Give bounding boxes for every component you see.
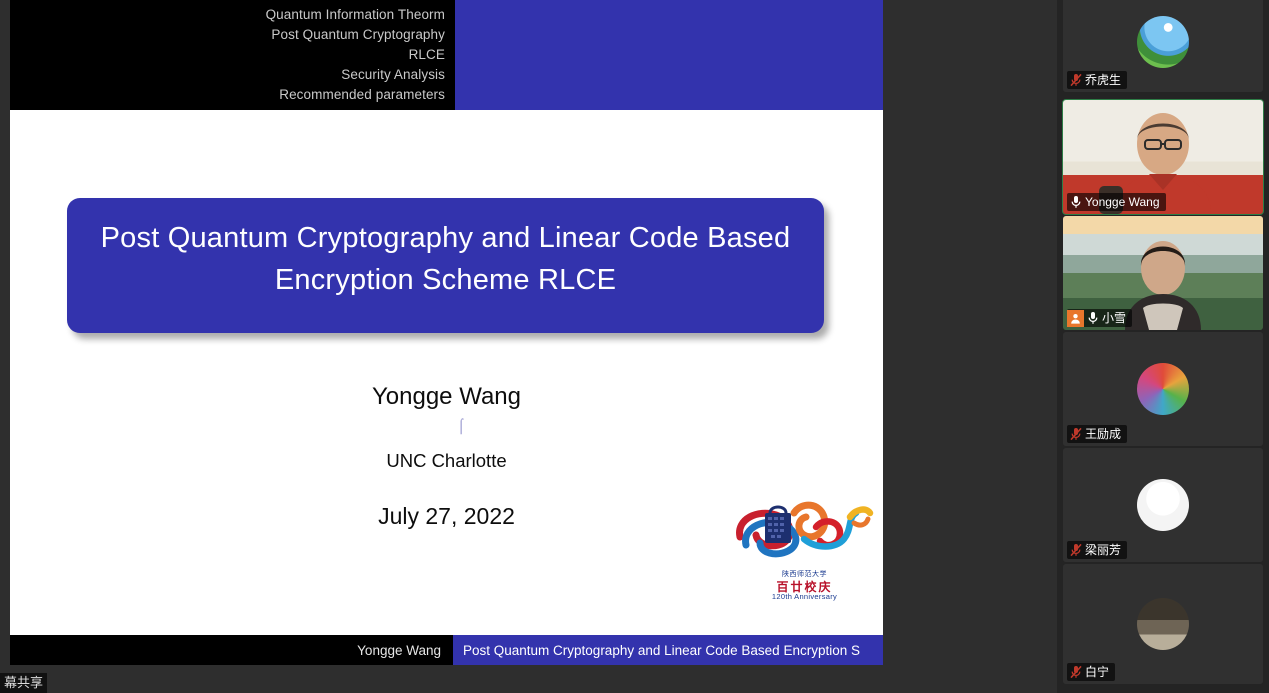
- slide-nav-list: Quantum Information Theorm Post Quantum …: [10, 0, 455, 110]
- nav-item-recommended-parameters[interactable]: Recommended parameters: [279, 85, 445, 105]
- slide-affiliation: UNC Charlotte: [10, 450, 883, 472]
- slide-footer-title-text: Post Quantum Cryptography and Linear Cod…: [463, 643, 860, 658]
- participant-tile[interactable]: 白宁: [1063, 564, 1263, 684]
- mic-muted-icon: [1067, 663, 1084, 681]
- zoom-meeting-window: Quantum Information Theorm Post Quantum …: [0, 0, 1269, 693]
- text-cursor-icon: ⌠: [457, 420, 464, 434]
- participant-name: 白宁: [1084, 663, 1109, 681]
- participant-tile[interactable]: 乔虎生: [1063, 0, 1263, 92]
- host-badge-icon: [1067, 310, 1084, 327]
- participant-name: 小雪: [1101, 309, 1126, 327]
- slide-footer: Yongge Wang Post Quantum Cryptography an…: [10, 635, 883, 665]
- slide-footer-author-text: Yongge Wang: [357, 643, 441, 658]
- participant-name: 王励成: [1084, 425, 1121, 443]
- nav-item-quantum-information-theorm[interactable]: Quantum Information Theorm: [266, 5, 445, 25]
- participant-nametag: 白宁: [1067, 663, 1115, 681]
- participant-nametag: 王励成: [1067, 425, 1127, 443]
- participant-name: 乔虎生: [1084, 71, 1121, 89]
- screen-share-status-label[interactable]: 幕共享: [0, 673, 47, 693]
- mic-icon: [1084, 309, 1101, 327]
- slide-title-banner: Post Quantum Cryptography and Linear Cod…: [67, 198, 824, 333]
- slide-footer-author: Yongge Wang: [10, 635, 453, 665]
- mic-muted-icon: [1067, 541, 1084, 559]
- presentation-slide[interactable]: Quantum Information Theorm Post Quantum …: [10, 0, 883, 665]
- shared-screen-area: Quantum Information Theorm Post Quantum …: [0, 0, 1057, 693]
- participant-tile[interactable]: 梁丽芳: [1063, 448, 1263, 562]
- avatar: [1137, 16, 1189, 68]
- slide-footer-title: Post Quantum Cryptography and Linear Cod…: [453, 635, 883, 665]
- slide-nav-header: Quantum Information Theorm Post Quantum …: [10, 0, 883, 110]
- logo-ribbon-icon: [732, 493, 877, 571]
- participant-nametag: 梁丽芳: [1067, 541, 1127, 559]
- nav-item-post-quantum-cryptography[interactable]: Post Quantum Cryptography: [271, 25, 445, 45]
- slide-author: Yongge Wang: [10, 383, 883, 411]
- participant-filmstrip[interactable]: 乔虎生 Yongge Wang: [1057, 0, 1269, 693]
- avatar: [1137, 363, 1189, 415]
- participant-tile[interactable]: 小雪: [1063, 216, 1263, 330]
- slide-title: Post Quantum Cryptography and Linear Cod…: [67, 217, 824, 301]
- mic-muted-icon: [1067, 71, 1084, 89]
- nav-item-rlce[interactable]: RLCE: [409, 45, 445, 65]
- nav-accent-block: [455, 0, 883, 110]
- slide-body: Post Quantum Cryptography and Linear Cod…: [10, 110, 883, 635]
- university-anniversary-logo: 陕西师范大学 百廿校庆 120th Anniversary: [732, 493, 877, 603]
- avatar: [1137, 479, 1189, 531]
- participant-nametag: 小雪: [1067, 309, 1132, 327]
- logo-anniversary-en: 120th Anniversary: [732, 592, 877, 601]
- nav-item-security-analysis[interactable]: Security Analysis: [341, 65, 445, 85]
- participant-name: 梁丽芳: [1084, 541, 1121, 559]
- participant-nametag: Yongge Wang: [1067, 193, 1166, 211]
- mic-muted-icon: [1067, 425, 1084, 443]
- participant-tile[interactable]: 王励成: [1063, 332, 1263, 446]
- participant-name: Yongge Wang: [1084, 193, 1160, 211]
- avatar: [1137, 598, 1189, 650]
- participant-nametag: 乔虎生: [1067, 71, 1127, 89]
- participant-tile[interactable]: Yongge Wang: [1063, 100, 1263, 214]
- mic-icon: [1067, 193, 1084, 211]
